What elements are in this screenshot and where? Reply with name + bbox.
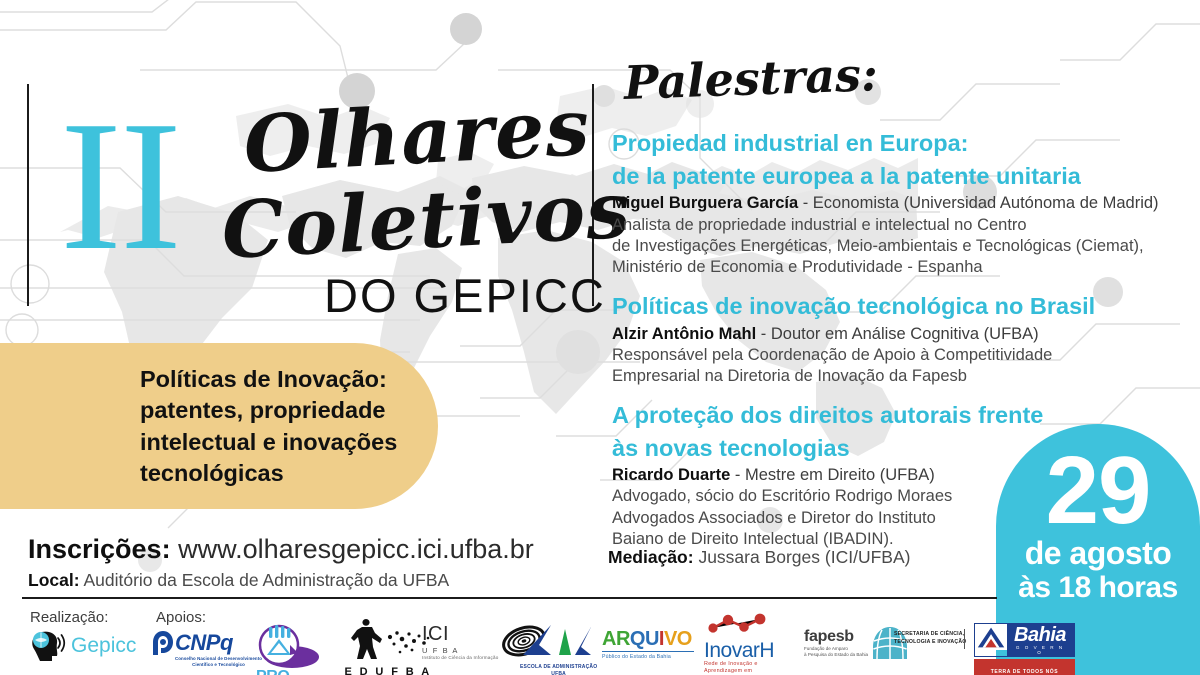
mediacao-label: Mediação: [608, 547, 694, 567]
talk-item: Políticas de inovação tecnológica no Bra… [612, 291, 1178, 387]
gepicc-head-icon [28, 629, 68, 663]
arquivo-rule [602, 651, 694, 653]
talk-speaker-name: Miguel Burguera García [612, 194, 798, 212]
cnpq-emblem-icon [152, 630, 174, 656]
badge-day: 29 [996, 446, 1200, 536]
registration-url-line: Inscrições: www.olharesgepicc.ici.ufba.b… [28, 534, 534, 566]
local-value: Auditório da Escola de Administração da … [80, 570, 450, 590]
proufba-emblem-icon [252, 623, 320, 673]
edition-number: II [60, 114, 180, 259]
fapesb-wordmark: fapesb [804, 628, 868, 646]
title-subtitle: DO GEPICC [324, 268, 606, 323]
logo-inovarh: InovarH Rede de Inovação e Aprendizagem … [704, 613, 778, 675]
secretaria-divider [964, 629, 965, 649]
edufba-wordmark: E D U F B A [340, 666, 436, 675]
logo-arquivo: ARQUIVO Público do Estado da Bahia [602, 629, 694, 660]
arquivo-sub: Público do Estado da Bahia [602, 654, 694, 660]
arquivo-ar: AR [602, 628, 630, 650]
apoios-label: Apoios: [156, 609, 206, 626]
inovarh-sub2: Aprendizagem em [704, 668, 778, 675]
escola-adm-sail-icon [521, 623, 597, 659]
talk-speaker-role: - Mestre em Direito (UFBA) [730, 466, 934, 484]
fapesb-sub2: à Pesquisa do Estado da Bahia [804, 652, 868, 658]
mediacao-line: Mediação: Jussara Borges (ICI/UFBA) [608, 547, 910, 568]
registration-block: Inscrições: www.olharesgepicc.ici.ufba.b… [28, 534, 534, 592]
bahia-arrow-icon [975, 624, 1007, 650]
inscricoes-label: Inscrições: [28, 534, 171, 564]
ici-sub: U F B A [422, 646, 499, 655]
theme-pill-text: Políticas de Inovação: patentes, proprie… [140, 364, 430, 489]
talk-desc-line2: de Investigações Energéticas, Meio-ambie… [612, 236, 1178, 257]
talk-desc-line3: Ministério de Economia e Produtividade -… [612, 257, 1178, 278]
talk-title-line1: Propiedad industrial en Europa: [612, 128, 1178, 160]
poster-title-block: II Olhares Coletivos DO GEPICC [52, 76, 592, 316]
talk-title-line1: Políticas de inovação tecnológica no Bra… [612, 291, 1178, 323]
logo-secretaria: SECRETARIA DE CIÊNCIA, TECNOLOGIA E INOV… [894, 631, 967, 647]
secretaria-line1: SECRETARIA DE CIÊNCIA, [894, 631, 967, 639]
talk-title-line2: de la patente europea a la patente unita… [612, 161, 1178, 193]
event-poster: II Olhares Coletivos DO GEPICC Políticas… [0, 0, 1200, 675]
cnpq-caption-line1: Conselho Nacional de Desenvolvimento [175, 656, 262, 662]
logo-escola-administracao: ESCOLA DE ADMINISTRAÇÃO UFBA [520, 623, 597, 675]
arquivo-vo: VO [664, 628, 692, 650]
ici-sub2: Instituto de Ciência da Informação [422, 655, 499, 660]
badge-time: às 18 horas [996, 571, 1200, 604]
sponsors-divider [22, 597, 997, 599]
bahia-wordmark: Bahia [1013, 625, 1067, 645]
talk-speaker-role: - Doutor em Análise Cognitiva (UFBA) [756, 325, 1038, 343]
talks-heading: Palestras: [623, 41, 1178, 106]
talk-desc-line1: Responsável pela Coordenação de Apoio à … [612, 345, 1178, 366]
talk-speaker-role: - Economista (Universidad Autónoma de Ma… [798, 194, 1158, 212]
realizacao-label: Realização: [30, 609, 108, 626]
secretaria-line2: TECNOLOGIA E INOVAÇÃO [894, 639, 967, 647]
title-left-rule [27, 84, 29, 306]
arquivo-qu: QU [630, 628, 659, 650]
arquivo-wordmark: ARQUIVO [602, 629, 694, 649]
escola-adm-line2: UFBA [520, 671, 597, 675]
logo-gepicc: Gepicc [28, 629, 136, 663]
talk-speaker: Alzir Antônio Mahl - Doutor em Análise C… [612, 324, 1178, 345]
escola-adm-line1: ESCOLA DE ADMINISTRAÇÃO [520, 664, 597, 671]
talk-speaker-name: Ricardo Duarte [612, 466, 730, 484]
local-label: Local: [28, 570, 80, 590]
proufba-pro: PRO [256, 668, 289, 675]
talk-desc-line1: Analista de propriedade industrial e int… [612, 215, 1178, 236]
inovarh-sub1: Rede de Inovação e [704, 661, 778, 668]
sponsors-row: Realização: Apoios: Gepicc [22, 605, 997, 673]
logo-bahia: Bahia G O V E R N O TERRA DE TODOS NÓS [974, 623, 1075, 675]
talk-desc-line2: Empresarial na Diretoria de Inovação da … [612, 366, 1178, 387]
proufba-ufba: UFBA [289, 668, 332, 675]
talk-speaker-name: Alzir Antônio Mahl [612, 325, 756, 343]
ici-wordmark: ICI [422, 623, 499, 646]
registration-local-line: Local: Auditório da Escola de Administra… [28, 569, 534, 592]
talk-item: Propiedad industrial en Europa: de la pa… [612, 128, 1178, 278]
bahia-sub: G O V E R N O [1013, 645, 1067, 655]
inovarh-wordmark: InovarH [704, 640, 778, 661]
logo-cnpq: CNPq Conselho Nacional de Desenvolviment… [152, 630, 262, 667]
cnpq-wordmark: CNPq [175, 630, 262, 656]
badge-month: de agosto [996, 536, 1200, 571]
logo-proufba: PROUFBA [252, 623, 332, 675]
cnpq-caption-line2: Científico e Tecnológico [175, 662, 262, 668]
gepicc-wordmark: Gepicc [71, 634, 136, 658]
inovarh-network-icon [704, 613, 778, 635]
bahia-foot: TERRA DE TODOS NÓS [991, 669, 1058, 675]
talk-speaker: Miguel Burguera García - Economista (Uni… [612, 193, 1178, 214]
inscricoes-url[interactable]: www.olharesgepicc.ici.ufba.br [171, 534, 534, 564]
mediacao-value: Jussara Borges (ICI/UFBA) [694, 547, 911, 567]
